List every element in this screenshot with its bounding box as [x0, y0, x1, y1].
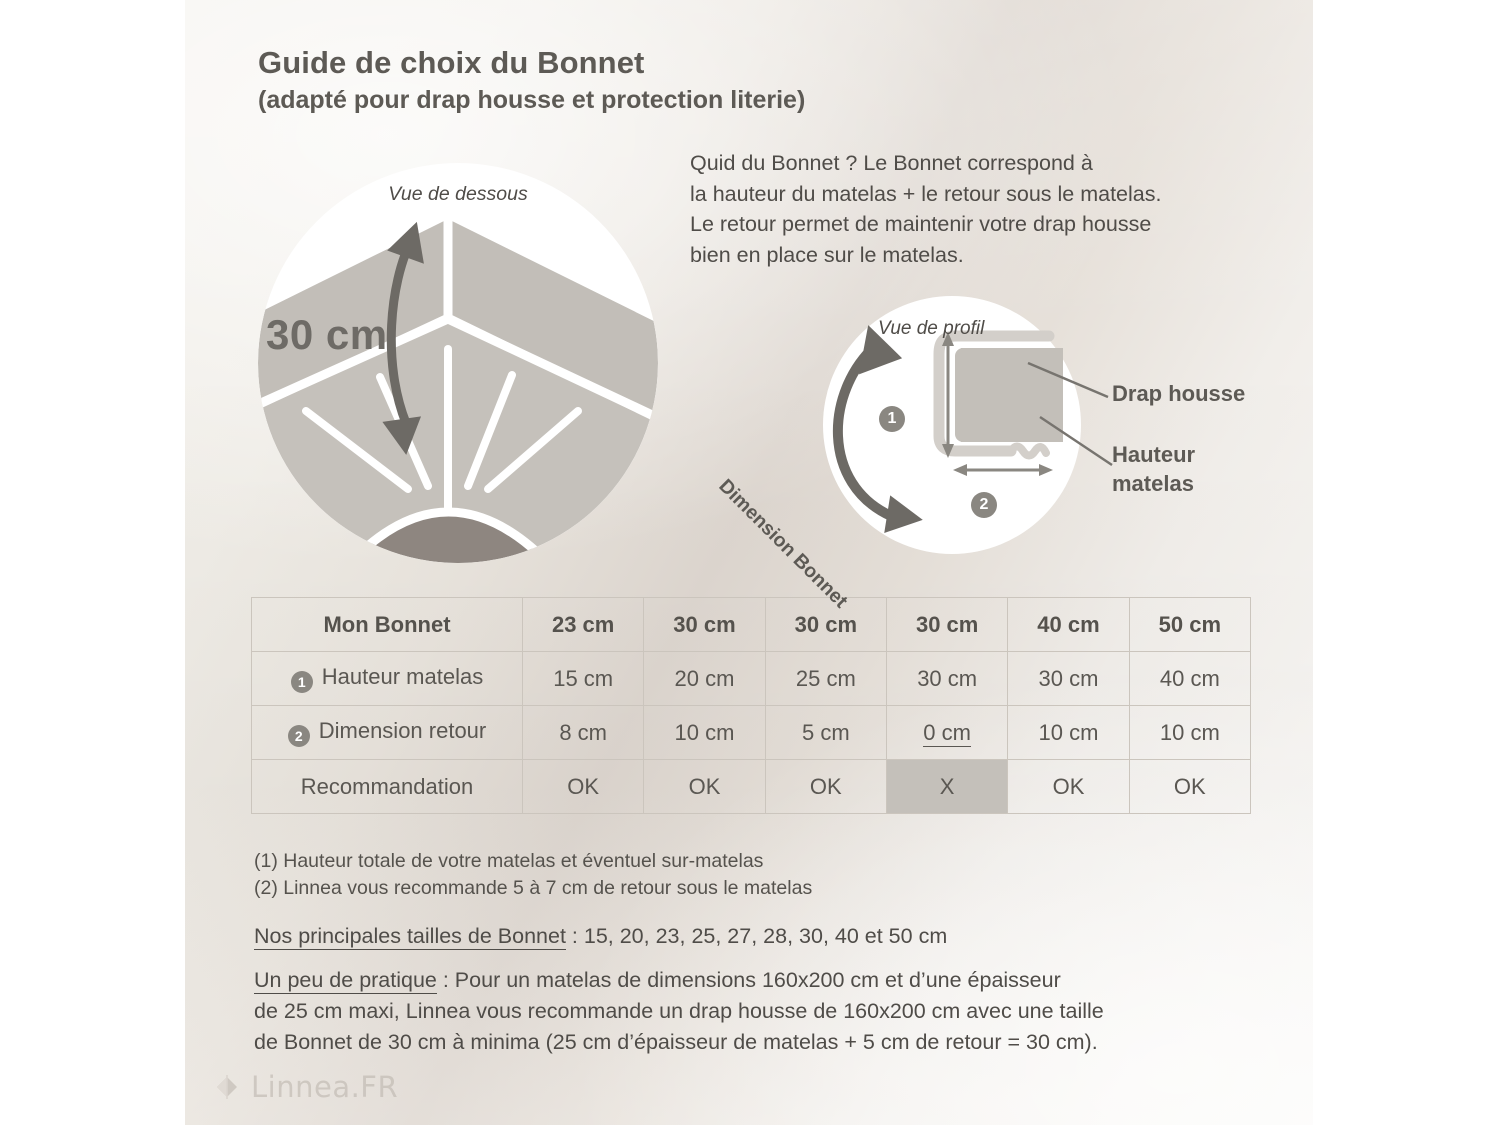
row-badge-2: 2 — [288, 725, 310, 747]
row-label-text: Hauteur matelas — [322, 664, 483, 689]
footnotes: (1) Hauteur totale de votre matelas et é… — [254, 848, 1254, 949]
bottom-view-label: Vue de dessous — [258, 183, 658, 206]
intro-line-4: bien en place sur le matelas. — [690, 240, 1280, 271]
table-cell: 10 cm — [644, 706, 765, 760]
diamond-logo-icon — [214, 1074, 240, 1100]
row-badge-1: 1 — [291, 671, 313, 693]
callout-hauteur-matelas: Hauteur matelas — [1112, 440, 1195, 498]
table-cell: 30 cm — [1008, 652, 1129, 706]
page-subtitle: (adapté pour drap housse et protection l… — [258, 85, 1158, 115]
main-sizes-line: Nos principales tailles de Bonnet : 15, … — [254, 924, 1254, 949]
profile-view-label: Vue de profil — [878, 318, 984, 340]
practice-line-1: Un peu de pratique : Pour un matelas de … — [254, 965, 1264, 996]
table-cell: 10 cm — [1129, 706, 1250, 760]
practice-paragraph: Un peu de pratique : Pour un matelas de … — [254, 965, 1264, 1058]
table-cell: OK — [765, 760, 886, 814]
callout-drap-housse: Drap housse — [1112, 381, 1245, 407]
row-label-hauteur-matelas: 1Hauteur matelas — [252, 652, 523, 706]
table-header-cell: 30 cm — [765, 598, 886, 652]
table-cell: OK — [1008, 760, 1129, 814]
row-label-text: Recommandation — [301, 774, 473, 799]
table-cell: 15 cm — [523, 652, 644, 706]
table-cell: 25 cm — [765, 652, 886, 706]
table-cell: 20 cm — [644, 652, 765, 706]
profile-badge-1: 1 — [879, 406, 905, 432]
intro-paragraph: Quid du Bonnet ? Le Bonnet correspond à … — [690, 148, 1280, 270]
profile-badge-2: 2 — [971, 492, 997, 518]
bonnet-table-wrapper: Mon Bonnet 23 cm 30 cm 30 cm 30 cm 40 cm… — [251, 597, 1251, 814]
table-header-row: Mon Bonnet 23 cm 30 cm 30 cm 30 cm 40 cm… — [252, 598, 1251, 652]
footnote-2: (2) Linnea vous recommande 5 à 7 cm de r… — [254, 875, 1254, 902]
page-title: Guide de choix du Bonnet — [258, 45, 1158, 82]
table-row: 1Hauteur matelas 15 cm 20 cm 25 cm 30 cm… — [252, 652, 1251, 706]
table-cell-text: 0 cm — [923, 720, 971, 747]
table-cell: OK — [523, 760, 644, 814]
table-row: 2Dimension retour 8 cm 10 cm 5 cm 0 cm 1… — [252, 706, 1251, 760]
callout-hauteur-line-2: matelas — [1112, 469, 1195, 498]
main-sizes-label: Nos principales tailles de Bonnet — [254, 924, 566, 950]
table-row: Recommandation OK OK OK X OK OK — [252, 760, 1251, 814]
table-cell: 30 cm — [886, 652, 1007, 706]
table-header-cell: 40 cm — [1008, 598, 1129, 652]
table-cell-not-recommended: X — [886, 760, 1007, 814]
brand-logo-text: Linnea.FR — [251, 1070, 398, 1104]
table-header-cell: 23 cm — [523, 598, 644, 652]
table-cell: 10 cm — [1008, 706, 1129, 760]
table-header-cell: Mon Bonnet — [252, 598, 523, 652]
table-cell: 8 cm — [523, 706, 644, 760]
intro-line-1: Quid du Bonnet ? Le Bonnet correspond à — [690, 148, 1280, 179]
bottom-view-illustration — [258, 163, 658, 563]
callout-hauteur-line-1: Hauteur — [1112, 440, 1195, 469]
row-label-dimension-retour: 2Dimension retour — [252, 706, 523, 760]
practice-line-1-rest: : Pour un matelas de dimensions 160x200 … — [437, 968, 1061, 992]
table-cell: 40 cm — [1129, 652, 1250, 706]
footnote-1: (1) Hauteur totale de votre matelas et é… — [254, 848, 1254, 875]
row-label-recommandation: Recommandation — [252, 760, 523, 814]
table-header-cell: 30 cm — [644, 598, 765, 652]
bonnet-table: Mon Bonnet 23 cm 30 cm 30 cm 30 cm 40 cm… — [251, 597, 1251, 814]
practice-line-2: de 25 cm maxi, Linnea vous recommande un… — [254, 996, 1264, 1027]
intro-line-3: Le retour permet de maintenir votre drap… — [690, 209, 1280, 240]
brand-logo[interactable]: Linnea.FR — [214, 1070, 398, 1104]
bottom-view-disc — [258, 163, 658, 563]
table-header-cell: 30 cm — [886, 598, 1007, 652]
bottom-view-diagram: Vue de dessous 30 cm — [258, 163, 658, 563]
table-cell: OK — [644, 760, 765, 814]
row-label-text: Dimension retour — [319, 718, 487, 743]
table-cell: 5 cm — [765, 706, 886, 760]
practice-line-3: de Bonnet de 30 cm à minima (25 cm d’épa… — [254, 1027, 1264, 1058]
intro-line-2: la hauteur du matelas + le retour sous l… — [690, 179, 1280, 210]
page-header: Guide de choix du Bonnet (adapté pour dr… — [258, 45, 1158, 115]
main-sizes-value: : 15, 20, 23, 25, 27, 28, 30, 40 et 50 c… — [566, 924, 947, 948]
table-cell-highlighted-value: 0 cm — [886, 706, 1007, 760]
practice-label: Un peu de pratique — [254, 968, 437, 994]
bottom-view-measure: 30 cm — [266, 311, 388, 359]
table-cell: OK — [1129, 760, 1250, 814]
table-header-cell: 50 cm — [1129, 598, 1250, 652]
